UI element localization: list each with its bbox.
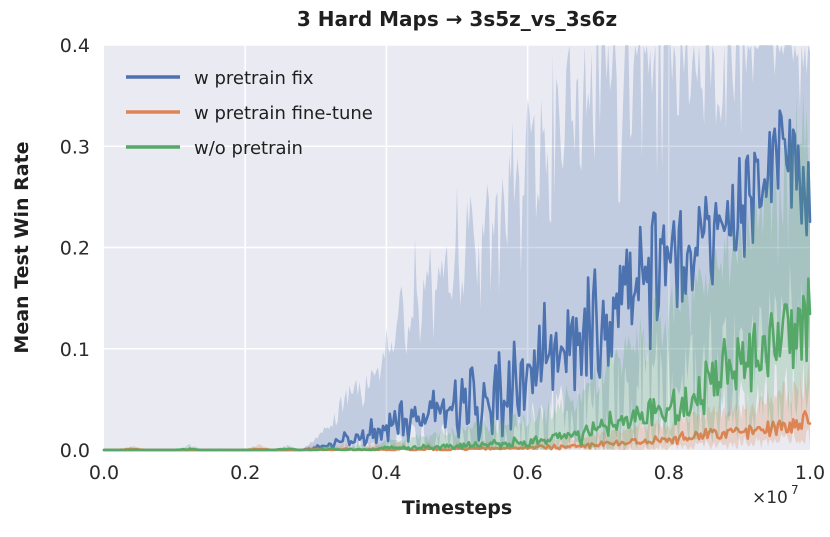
y-tick-label: 0.1 [60,339,90,361]
legend-label: w pretrain fine-tune [194,103,373,124]
x-tick-label: 0.6 [512,462,542,484]
x-axis-label: Timesteps [402,497,512,519]
x-axis-offset-base: ×10 [752,488,788,508]
chart-figure: 0.00.10.20.30.40.00.20.40.60.81.0×107Tim… [0,0,830,537]
legend-label: w/o pretrain [194,138,303,159]
x-axis-offset: ×107 [752,483,799,508]
x-tick-label: 1.0 [795,462,825,484]
chart-title: 3 Hard Maps → 3s5z_vs_3s6z [297,7,617,31]
y-tick-label: 0.3 [60,136,90,158]
y-tick-label: 0.4 [60,35,90,57]
x-tick-label: 0.2 [230,462,260,484]
legend-label: w pretrain fix [194,68,314,89]
x-tick-label: 0.4 [371,462,401,484]
x-tick-label: 0.8 [654,462,684,484]
x-axis-offset-exponent: 7 [791,483,799,497]
y-tick-label: 0.2 [60,238,90,260]
y-tick-label: 0.0 [60,440,90,462]
x-tick-label: 0.0 [89,462,119,484]
y-axis-label: Mean Test Win Rate [11,141,33,353]
